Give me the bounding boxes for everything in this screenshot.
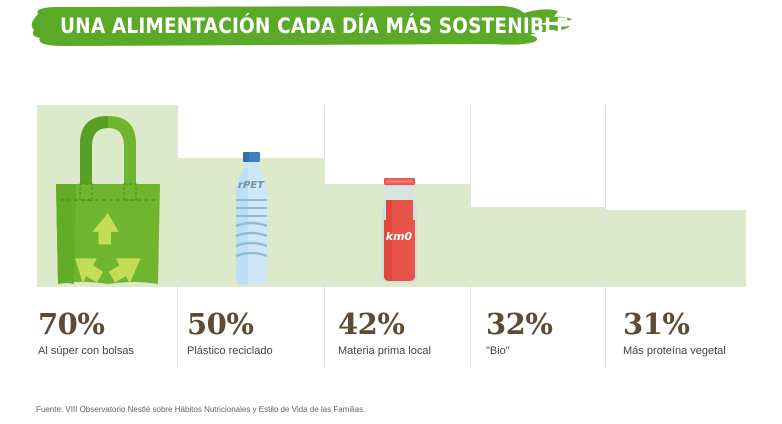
stat-caption: Materia prima local xyxy=(338,345,431,357)
rpet-label: rPET xyxy=(238,180,265,191)
juice-bottle-icon: km0 xyxy=(368,178,430,288)
stat-value: 31% xyxy=(623,310,726,339)
stat-block: 70% Al súper con bolsas xyxy=(38,310,134,357)
stat-column-plastico: rPET 50% Plástico reciclado xyxy=(177,0,324,424)
stat-value: 32% xyxy=(486,310,552,339)
stat-caption: Plástico reciclado xyxy=(187,345,273,357)
stat-block: 42% Materia prima local xyxy=(338,310,431,357)
stat-column-materia-prima: km0 42% Materia prima local xyxy=(324,0,470,424)
stat-column-proteina: 31% Más proteína vegetal xyxy=(605,0,782,424)
stat-caption: "Bio" xyxy=(486,345,552,357)
stat-value: 42% xyxy=(338,310,431,339)
plastic-bottle-icon: rPET xyxy=(223,152,279,288)
stat-column-bio: 32% "Bio" xyxy=(470,0,605,424)
stat-caption: Más proteína vegetal xyxy=(623,345,726,357)
stat-column-bolsas: 70% Al súper con bolsas xyxy=(0,0,177,424)
infographic-chart: 70% Al súper con bolsas rPET 50% xyxy=(0,0,782,424)
stat-block: 32% "Bio" xyxy=(486,310,552,357)
stat-value: 70% xyxy=(38,310,134,339)
shopping-bag-icon xyxy=(46,108,170,288)
column-panel xyxy=(606,210,746,287)
stat-block: 31% Más proteína vegetal xyxy=(623,310,726,357)
km0-label: km0 xyxy=(386,230,413,243)
source-note: Fuente: VIII Observatorio Nestlé sobre H… xyxy=(36,405,365,414)
column-panel xyxy=(471,207,605,287)
stat-caption: Al súper con bolsas xyxy=(38,345,134,357)
stat-block: 50% Plástico reciclado xyxy=(187,310,273,357)
stat-value: 50% xyxy=(187,310,273,339)
